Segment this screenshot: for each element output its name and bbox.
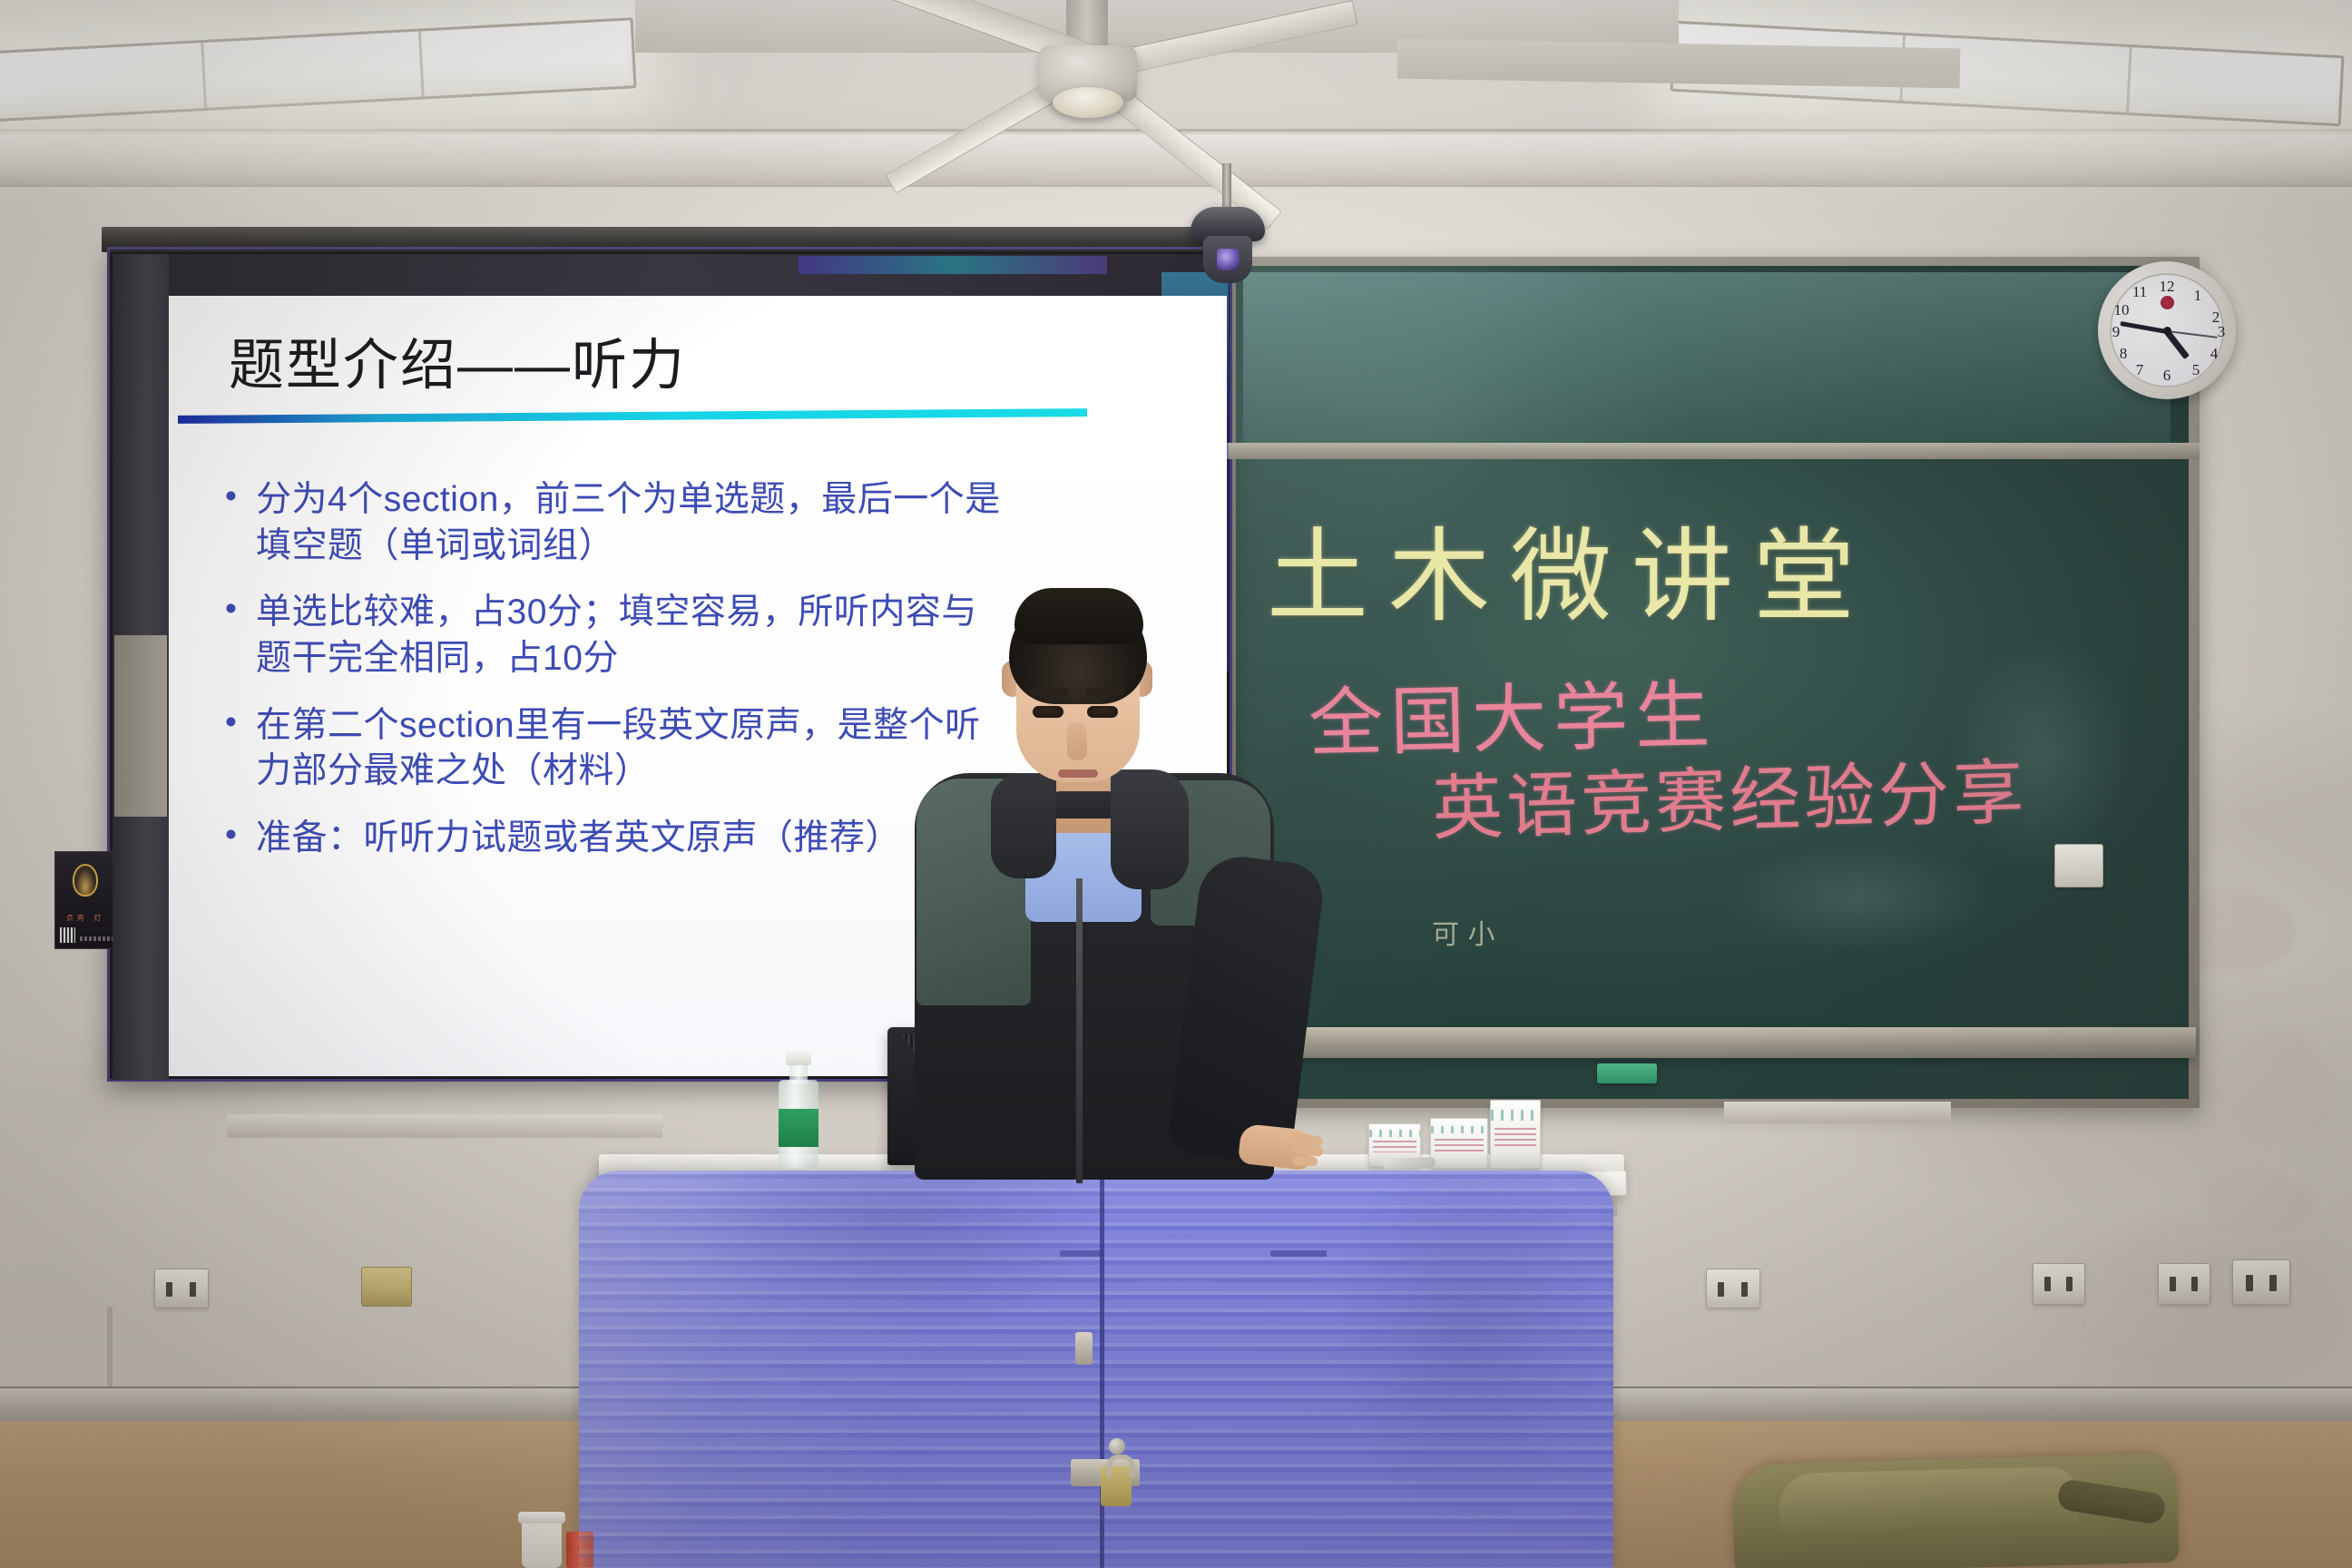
podium-door-seam — [1100, 1171, 1104, 1568]
light-divider — [418, 31, 425, 96]
blackboard-eraser[interactable] — [1597, 1063, 1657, 1083]
bottle-label — [779, 1109, 818, 1147]
clock-numeral: 8 — [2114, 345, 2132, 363]
chalk-box-print — [1369, 1130, 1420, 1136]
blackboard-sliding-panel[interactable] — [1243, 272, 2171, 445]
projector-glitch-band — [799, 256, 1107, 274]
outlet-slot — [2066, 1277, 2073, 1291]
clock-numeral: 3 — [2212, 323, 2230, 341]
clock-numeral: 1 — [2189, 287, 2207, 305]
blackboard-subline-2: 英语竞赛经验分享 — [1431, 736, 2029, 854]
slide-bullet: 分为4个section，前三个为单选题，最后一个是 填空题（单词或词组） — [220, 477, 1191, 569]
wall-outlet[interactable] — [361, 1267, 412, 1307]
wall-ledge — [1724, 1102, 1951, 1123]
slide-title-underline — [178, 408, 1087, 424]
screen-housing — [102, 227, 1234, 252]
blackboard-rail — [1227, 443, 2200, 459]
outlet-slot — [1718, 1282, 1724, 1297]
wall-outlet[interactable] — [2033, 1263, 2085, 1305]
clock-numeral: 6 — [2158, 367, 2176, 385]
wall-patch — [2241, 1034, 2332, 1143]
presenter-brow-left — [1029, 688, 1069, 696]
poster-fineprint — [80, 936, 113, 941]
poster-caption: 点亮 灯 — [58, 913, 113, 923]
bullet-line-1: 在第二个section里有一段英文原声，是整个听 — [256, 706, 981, 745]
light-divider — [201, 43, 207, 108]
chalk-box-text — [1435, 1139, 1484, 1152]
presenter-hair-fringe — [1014, 588, 1143, 644]
chalk-smudge — [1724, 844, 1996, 953]
clock-numeral: 11 — [2131, 283, 2149, 301]
wall-outlet[interactable] — [2232, 1259, 2290, 1305]
jacket-zipper — [1076, 878, 1083, 1183]
bullet-line-1: 准备：听听力试题或者英文原声（推荐） — [256, 818, 901, 857]
presenter-brow-right — [1085, 688, 1125, 696]
outlet-slot — [2269, 1275, 2277, 1291]
podium-keyhole[interactable] — [1075, 1332, 1093, 1365]
floor-cup[interactable] — [522, 1517, 562, 1568]
podium-vent-slot — [1060, 1250, 1103, 1257]
clock-numeral: 5 — [2187, 361, 2205, 379]
floor-can[interactable] — [566, 1532, 593, 1568]
outlet-slot — [2191, 1277, 2198, 1291]
clock-numeral: 7 — [2131, 361, 2149, 379]
padlock-icon[interactable] — [1101, 1466, 1132, 1506]
jacket-hood-left — [991, 773, 1056, 878]
classroom-scene: 土木微讲堂 全国大学生 英语竞赛经验分享 可 小 12 1 2 3 4 5 6 … — [0, 0, 2352, 1568]
slide-title: 题型介绍——听力 — [229, 319, 686, 400]
outlet-slot — [166, 1282, 172, 1297]
bullet-line-1: 分为4个section，前三个为单选题，最后一个是 — [256, 480, 1001, 519]
bullet-line-1: 单选比较难，占30分；填空容易，所听内容与 — [256, 593, 977, 632]
blackboard-small-mark: 可 小 — [1432, 912, 1495, 952]
bullet-line-2: 填空题（单词或词组） — [256, 524, 1191, 570]
chalk-box[interactable] — [1490, 1100, 1541, 1169]
qr-code-icon — [60, 927, 75, 943]
bottle-cap — [786, 1051, 811, 1065]
chalk-box-print — [1491, 1110, 1540, 1121]
presenter-nose — [1067, 722, 1087, 760]
chalk-box-print — [1431, 1126, 1487, 1134]
outlet-slot — [2246, 1275, 2253, 1291]
wall-outlet[interactable] — [2158, 1263, 2210, 1305]
podium-knob[interactable] — [1109, 1438, 1125, 1455]
wall-patch — [2087, 1298, 2250, 1352]
outlet-slot — [2170, 1277, 2176, 1291]
floor-cup-lid — [518, 1512, 565, 1524]
wall-outlet[interactable] — [154, 1269, 209, 1308]
outlet-slot — [2044, 1277, 2051, 1291]
camera-lens-icon — [1217, 249, 1240, 270]
chalk-box-text — [1494, 1128, 1536, 1147]
backpack-flap — [1778, 1466, 2079, 1534]
presenter-eye-right — [1087, 706, 1118, 718]
presenter-mouth — [1058, 769, 1098, 778]
chalk-tray — [1232, 1027, 2196, 1058]
clock-brand-icon — [2161, 296, 2174, 309]
presenter-finger — [1292, 1155, 1318, 1166]
ceiling-fan-hub — [1053, 87, 1123, 118]
camera-mount-pole — [1222, 163, 1231, 211]
clock-numeral: 12 — [2158, 278, 2176, 296]
presenter-eye-left — [1033, 706, 1063, 718]
clock-numeral: 10 — [2112, 301, 2131, 319]
clock-numeral: 4 — [2205, 345, 2223, 363]
marker-pen[interactable] — [1383, 1157, 1436, 1170]
screen-side-highlight — [114, 635, 167, 817]
light-divider — [2126, 47, 2132, 113]
podium-vent-slot — [1270, 1250, 1327, 1257]
clock-center-pin — [2163, 327, 2171, 335]
outlet-slot — [190, 1282, 196, 1297]
blackboard-headline: 土木微讲堂 — [1267, 495, 2174, 642]
wall-patch — [2205, 1171, 2314, 1234]
chalk-box-text — [1373, 1141, 1416, 1152]
podium-cabinet — [579, 1171, 1613, 1568]
outlet-slot — [1741, 1282, 1748, 1297]
chalk-box[interactable] — [1430, 1118, 1488, 1169]
jacket-hood-right — [1111, 769, 1189, 889]
wall-outlet[interactable] — [1706, 1269, 1760, 1308]
lightbulb-icon — [73, 864, 98, 897]
wall-ledge — [227, 1114, 662, 1138]
